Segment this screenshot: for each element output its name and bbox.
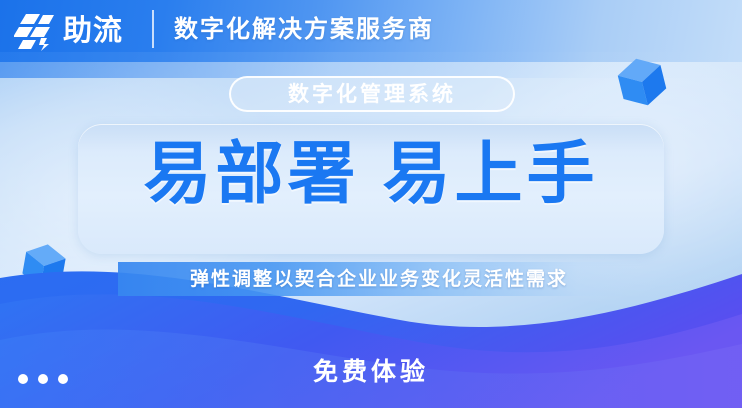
subtitle-bar: 弹性调整以契合企业业务变化灵活性需求 — [118, 262, 640, 296]
hero-headline: 易部署 易上手 — [78, 139, 664, 210]
carousel-dot-1[interactable] — [18, 374, 28, 384]
promo-banner: 助流 数字化解决方案服务商 数字化管理系统 易部署 易上手 — [0, 0, 742, 408]
carousel-dots[interactable] — [18, 374, 68, 384]
logo-text: 助流 — [63, 17, 123, 46]
header-tagline: 数字化解决方案服务商 — [174, 16, 434, 45]
badge-label: 数字化管理系统 — [288, 84, 456, 105]
flow-lightning-logo-icon — [14, 11, 58, 51]
badge-digital-management-system: 数字化管理系统 — [229, 76, 515, 112]
subtitle-label: 弹性调整以契合企业业务变化灵活性需求 — [190, 270, 568, 289]
carousel-dot-2[interactable] — [38, 374, 48, 384]
cube-top-right-icon — [610, 50, 674, 114]
cta-free-trial[interactable]: 免费体验 — [0, 360, 742, 385]
logo[interactable]: 助流 — [14, 8, 123, 54]
carousel-dot-3[interactable] — [58, 374, 68, 384]
logo-divider — [152, 10, 154, 48]
